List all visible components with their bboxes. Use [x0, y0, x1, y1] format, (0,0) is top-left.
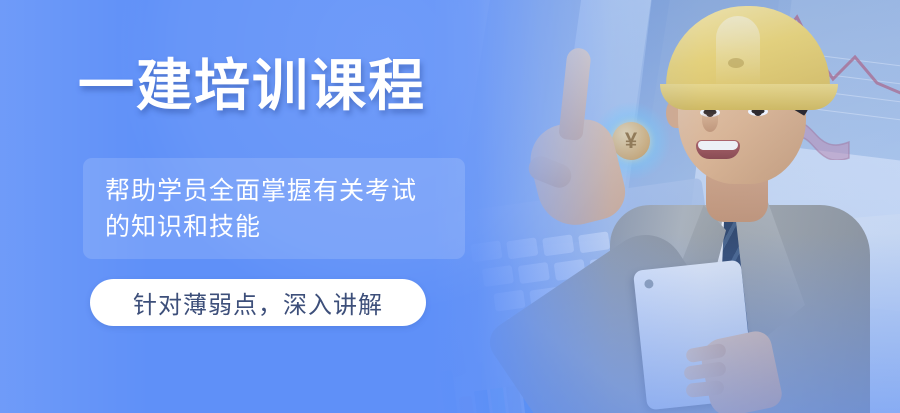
course-promo-banner: ¥: [0, 0, 900, 413]
subtitle-line-1: 帮助学员全面掌握有关考试: [105, 174, 443, 210]
banner-title: 一建培训课程: [78, 58, 426, 114]
tagline-button[interactable]: 针对薄弱点，深入讲解: [90, 279, 426, 326]
tagline-text: 针对薄弱点，深入讲解: [133, 285, 383, 320]
subtitle-box: 帮助学员全面掌握有关考试 的知识和技能: [83, 158, 465, 259]
subtitle-line-2: 的知识和技能: [105, 210, 443, 246]
text-content: 一建培训课程 帮助学员全面掌握有关考试 的知识和技能 针对薄弱点，深入讲解: [0, 0, 520, 413]
